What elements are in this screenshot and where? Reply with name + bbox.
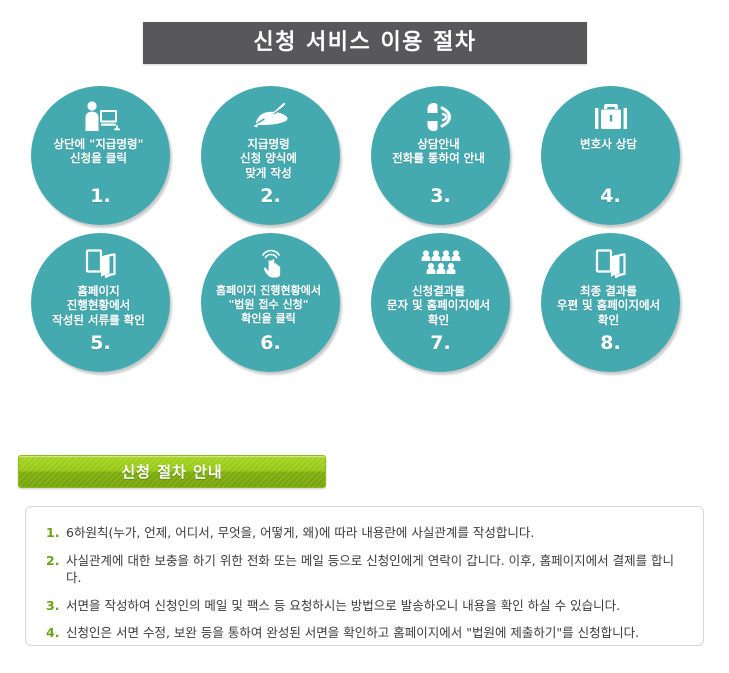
step-number: 6. — [201, 332, 340, 354]
people-group-icon — [420, 247, 462, 281]
step-label: 상담안내 전화를 통하여 안내 — [365, 137, 513, 166]
step-circle-5[interactable]: 홈페이지 진행현황에서 작성된 서류를 확인 5. — [31, 233, 170, 372]
steps-container: 상단에 "지급명령" 신청을 클릭 1. 지급명령 신청 양식에 맞게 작성 2… — [0, 86, 729, 380]
step-circle-1[interactable]: 상단에 "지급명령" 신청을 클릭 1. — [31, 86, 170, 225]
step-number: 1. — [31, 185, 170, 207]
click-hand-icon — [250, 247, 292, 281]
step-label: 홈페이지 진행현황에서 "법원 접수 신청" 확인을 클릭 — [195, 284, 343, 325]
person-at-computer-icon — [80, 100, 122, 134]
open-book-icon — [80, 247, 122, 281]
procedure-guide-banner: 신청 절차 안내 — [18, 455, 326, 488]
step-number: 5. — [31, 332, 170, 354]
telephone-icon — [420, 100, 462, 134]
step-number: 3. — [371, 185, 510, 207]
list-item: 2. 사실관계에 대한 보충을 하기 위한 전화 또는 메일 등으로 신청인에게… — [46, 552, 683, 587]
step-number: 8. — [541, 332, 680, 354]
step-label: 홈페이지 진행현황에서 작성된 서류를 확인 — [25, 284, 173, 327]
list-item: 4. 신청인은 서면 수정, 보완 등을 통하여 완성된 서면을 확인하고 홈페… — [46, 624, 683, 642]
step-circle-3[interactable]: 상담안내 전화를 통하여 안내 3. — [371, 86, 510, 225]
procedure-infographic: 신청 서비스 이용 절차 상단에 "지급명령" 신청을 클릭 — [0, 0, 729, 673]
list-item: 3. 서면을 작성하여 신청인의 메일 및 팩스 등 요청하시는 방법으로 발송… — [46, 597, 683, 615]
step-number: 7. — [371, 332, 510, 354]
briefcase-icon — [590, 100, 632, 134]
note-number: 4. — [46, 624, 66, 642]
note-text: 서면을 작성하여 신청인의 메일 및 팩스 등 요청하시는 방법으로 발송하오니… — [66, 597, 683, 615]
steps-row-1: 상단에 "지급명령" 신청을 클릭 1. 지급명령 신청 양식에 맞게 작성 2… — [0, 86, 729, 225]
step-number: 4. — [541, 185, 680, 207]
step-circle-2[interactable]: 지급명령 신청 양식에 맞게 작성 2. — [201, 86, 340, 225]
step-label: 변호사 상담 — [535, 137, 683, 151]
list-item: 1. 6하원칙(누가, 언제, 어디서, 무엇을, 어떻게, 왜)에 따라 내용… — [46, 524, 683, 542]
steps-row-2: 홈페이지 진행현황에서 작성된 서류를 확인 5. 홈페이지 진행현황에서 "법… — [0, 233, 729, 372]
step-circle-6[interactable]: 홈페이지 진행현황에서 "법원 접수 신청" 확인을 클릭 6. — [201, 233, 340, 372]
step-circle-8[interactable]: 최종 결과를 우편 및 홈페이지에서 확인 8. — [541, 233, 680, 372]
note-text: 6하원칙(누가, 언제, 어디서, 무엇을, 어떻게, 왜)에 따라 내용란에 … — [66, 524, 683, 542]
step-number: 2. — [201, 185, 340, 207]
step-circle-7[interactable]: 신청결과를 문자 및 홈페이지에서 확인 7. — [371, 233, 510, 372]
notes-box: 1. 6하원칙(누가, 언제, 어디서, 무엇을, 어떻게, 왜)에 따라 내용… — [25, 506, 704, 646]
step-label: 최종 결과를 우편 및 홈페이지에서 확인 — [535, 284, 683, 327]
note-text: 신청인은 서면 수정, 보완 등을 통하여 완성된 서면을 확인하고 홈페이지에… — [66, 624, 683, 642]
note-number: 2. — [46, 552, 66, 570]
note-text: 사실관계에 대한 보충을 하기 위한 전화 또는 메일 등으로 신청인에게 연락… — [66, 552, 683, 587]
step-label: 지급명령 신청 양식에 맞게 작성 — [195, 137, 343, 180]
note-number: 3. — [46, 597, 66, 615]
page-header-bar: 신청 서비스 이용 절차 — [143, 22, 587, 64]
banner-label: 신청 절차 안내 — [121, 461, 222, 482]
step-circle-4[interactable]: 변호사 상담 4. — [541, 86, 680, 225]
step-label: 상단에 "지급명령" 신청을 클릭 — [25, 137, 173, 166]
writing-hand-icon — [250, 100, 292, 134]
open-book-icon — [590, 247, 632, 281]
step-label: 신청결과를 문자 및 홈페이지에서 확인 — [365, 284, 513, 327]
page-title: 신청 서비스 이용 절차 — [253, 32, 476, 54]
note-number: 1. — [46, 524, 66, 542]
